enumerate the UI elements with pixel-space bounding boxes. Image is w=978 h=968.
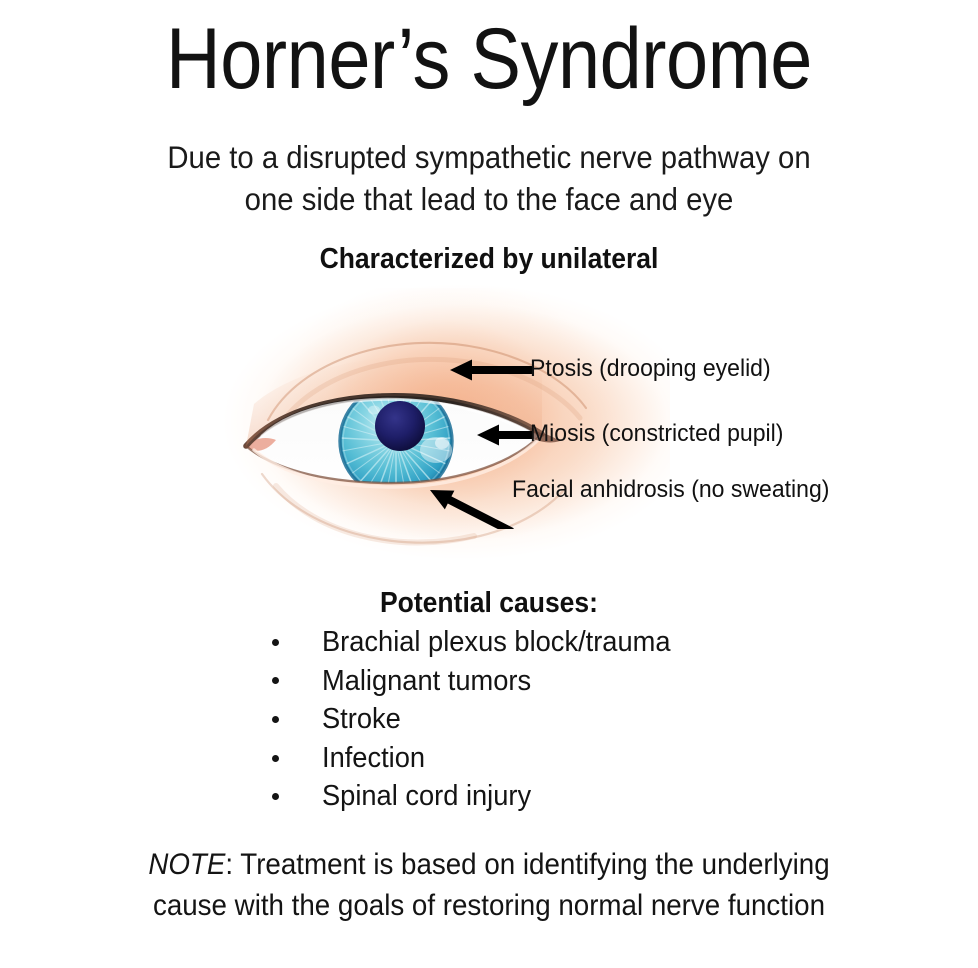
callout-label-miosis: Miosis (constricted pupil) xyxy=(530,420,783,448)
list-item-label: Spinal cord injury xyxy=(322,777,531,816)
page-subtitle: Due to a disrupted sympathetic nerve pat… xyxy=(145,137,833,221)
bullet-icon xyxy=(272,639,279,646)
list-item: Stroke xyxy=(258,700,778,739)
list-item-label: Brachial plexus block/trauma xyxy=(322,623,670,662)
callout-label-ptosis: Ptosis (drooping eyelid) xyxy=(530,355,771,383)
bullet-icon xyxy=(272,755,279,762)
list-item: Malignant tumors xyxy=(258,662,778,701)
bullet-icon xyxy=(272,677,279,684)
list-item: Brachial plexus block/trauma xyxy=(258,623,778,662)
list-item: Spinal cord injury xyxy=(258,777,778,816)
list-item-label: Stroke xyxy=(322,700,401,739)
list-item: Infection xyxy=(258,739,778,778)
callout-label-anhidrosis: Facial anhidrosis (no sweating) xyxy=(512,476,829,504)
note-keyword: NOTE xyxy=(148,848,225,881)
bullet-icon xyxy=(272,716,279,723)
arrow-left-icon-ptosis xyxy=(450,357,532,383)
causes-heading: Potential causes: xyxy=(34,587,944,620)
causes-list: Brachial plexus block/trauma Malignant t… xyxy=(258,623,778,816)
note-text: : Treatment is based on identifying the … xyxy=(153,848,830,922)
list-item-label: Infection xyxy=(322,739,425,778)
bullet-icon xyxy=(272,793,279,800)
arrow-left-icon-miosis xyxy=(477,422,533,448)
page-title: Horner’s Syndrome xyxy=(59,16,920,104)
characterized-heading: Characterized by unilateral xyxy=(34,243,944,276)
list-item-label: Malignant tumors xyxy=(322,662,531,701)
note-block: NOTE: Treatment is based on identifying … xyxy=(135,845,844,926)
